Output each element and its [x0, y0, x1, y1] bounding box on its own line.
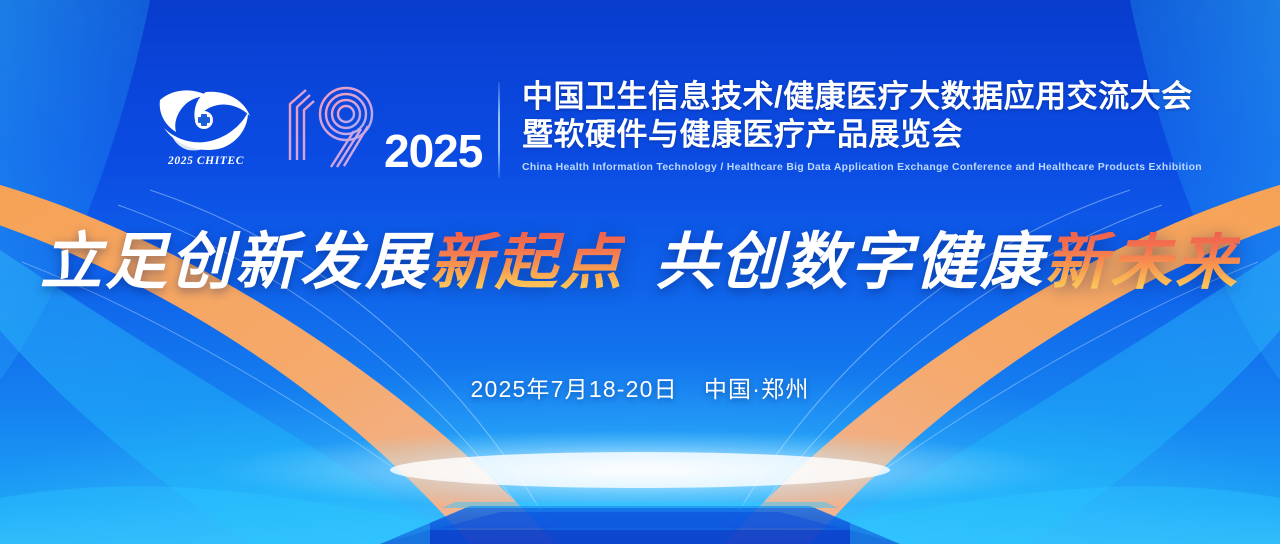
edition-number-block: 2025 [280, 78, 480, 178]
page-subtitle-english: China Health Information Technology / He… [522, 162, 1202, 173]
slogan-part2-white: 共创数字健康 [655, 232, 1045, 294]
page-title-line-2: 暨软硬件与健康医疗产品展览会 [522, 116, 1202, 154]
event-date: 2025年7月18-20日 [470, 376, 677, 402]
title-block: 中国卫生信息技术/健康医疗大数据应用交流大会 暨软硬件与健康医疗产品展览会 Ch… [522, 78, 1202, 173]
slogan: 立足创新发展新起点共创数字健康新未来 [0, 232, 1280, 294]
date-location-line: 2025年7月18-20日中国·郑州 [0, 370, 1280, 404]
slogan-part2-accent: 新未来 [1045, 232, 1240, 294]
page-title-line-1: 中国卫生信息技术/健康医疗大数据应用交流大会 [522, 78, 1202, 116]
slogan-part1-accent: 新起点 [430, 232, 625, 294]
edition-year: 2025 [384, 128, 482, 174]
header-divider [498, 82, 500, 178]
event-location: 中国·郑州 [704, 376, 810, 402]
logo-wordmark: 2025 CHITEC [168, 155, 244, 167]
conference-banner: 2025 CHITEC [0, 0, 1280, 544]
banner-header: 2025 CHITEC [150, 78, 1202, 178]
logo-block: 2025 CHITEC [150, 78, 262, 167]
chitec-bird-cross-emblem-icon [154, 84, 258, 152]
slogan-part1-white: 立足创新发展 [40, 232, 430, 294]
